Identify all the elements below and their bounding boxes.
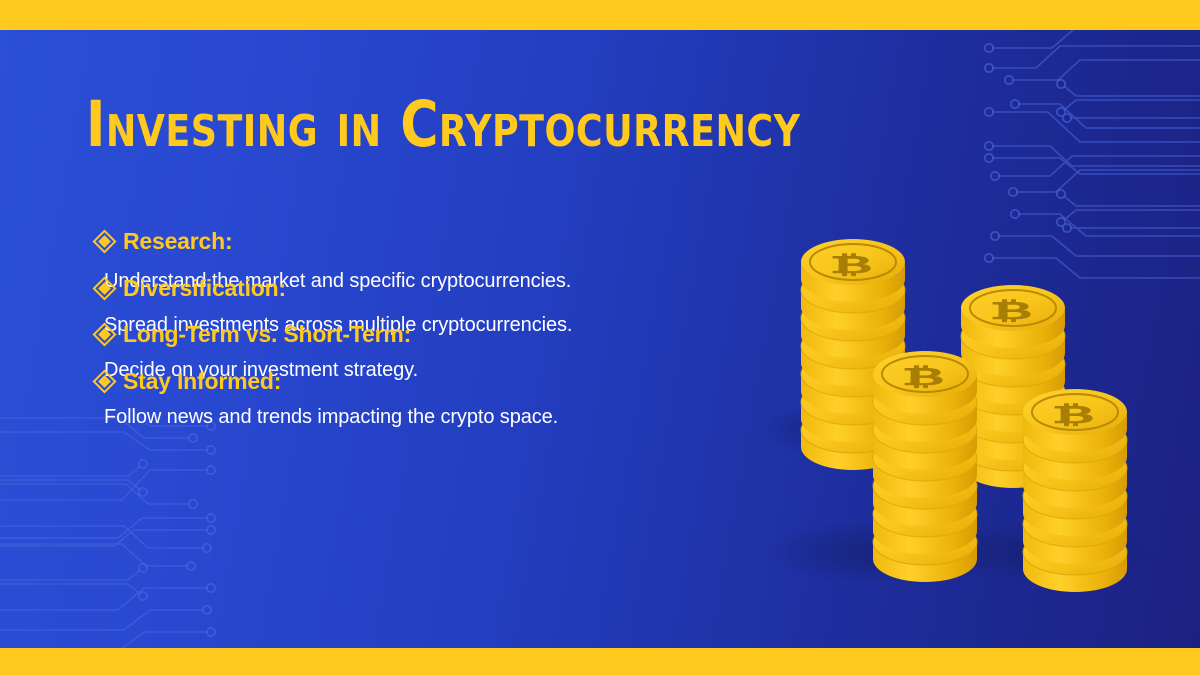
coin-stack-front-right	[1023, 389, 1127, 592]
bullet-heading-label: Diversification:	[123, 275, 286, 302]
slide-canvas: Investing in Cryptocurrency Research: Un…	[0, 0, 1200, 675]
diamond-bullet-icon	[92, 322, 116, 346]
coin-stack-front-left	[873, 351, 977, 582]
bullet-list: Research: Understand the market and spec…	[96, 228, 736, 428]
bullet-heading-label: Long-Term vs. Short-Term:	[123, 321, 411, 348]
bullet-heading-stay-informed: Stay Informed:	[96, 368, 281, 395]
bullet-heading-label: Stay Informed:	[123, 368, 281, 395]
bottom-accent-bar	[0, 648, 1200, 675]
bullet-heading-long-term-vs-short-term: Long-Term vs. Short-Term:	[96, 321, 411, 348]
bullet-heading-label: Research:	[123, 228, 232, 255]
diamond-bullet-icon	[92, 369, 116, 393]
bitcoin-coin-stacks-illustration	[745, 180, 1165, 600]
top-accent-bar	[0, 0, 1200, 30]
bullet-body-stay-informed: Follow news and trends impacting the cry…	[104, 406, 558, 429]
bullet-heading-research: Research:	[96, 228, 232, 255]
circuit-pattern-bottom-left	[0, 408, 300, 648]
diamond-bullet-icon	[92, 276, 116, 300]
diamond-bullet-icon	[92, 229, 116, 253]
page-title: Investing in Cryptocurrency	[86, 92, 800, 158]
bullet-heading-diversification: Diversification:	[96, 275, 286, 302]
